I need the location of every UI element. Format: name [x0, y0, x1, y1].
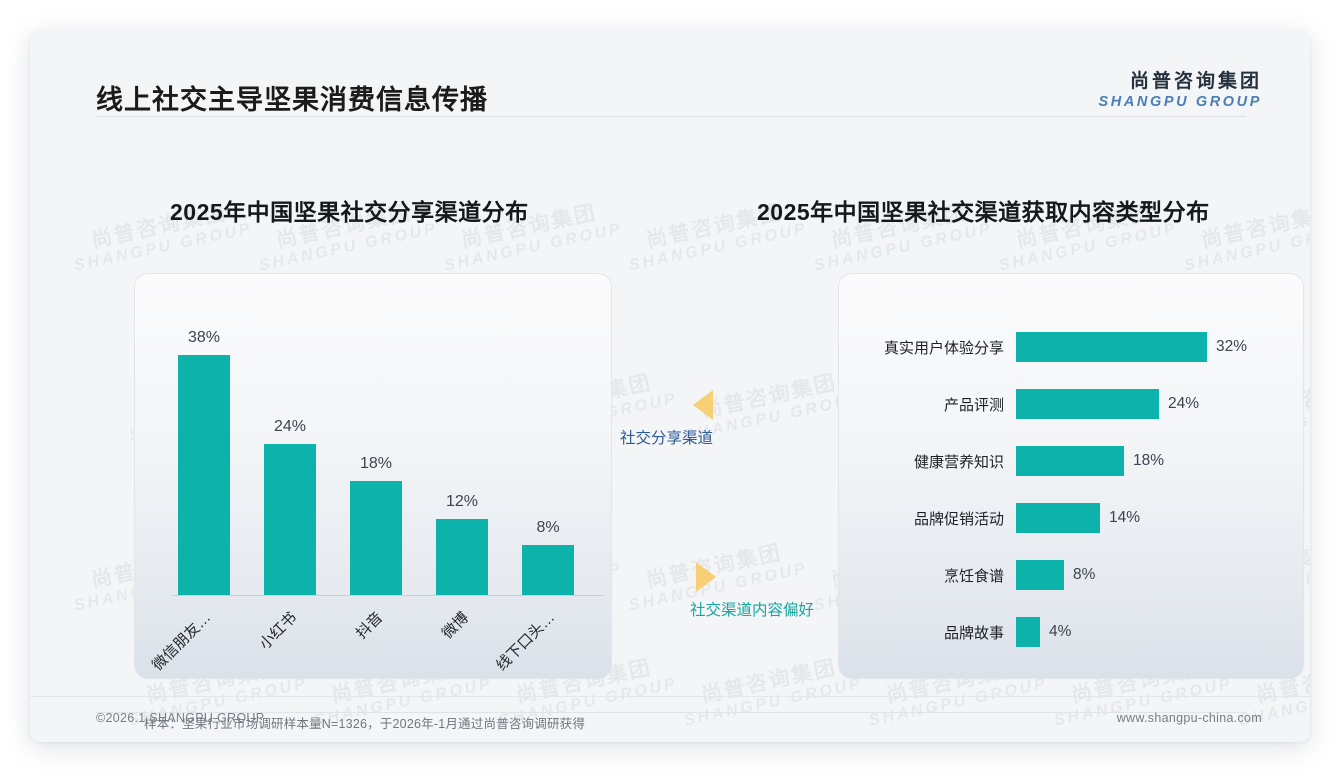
vertical-bar [178, 355, 230, 595]
logo-english-text: SHANGPU GROUP [1098, 94, 1262, 110]
website-link[interactable]: www.shangpu-china.com [1117, 711, 1262, 725]
horizontal-bar [1016, 617, 1040, 647]
slide-canvas: 尚普咨询集团SHANGPU GROUP尚普咨询集团SHANGPU GROUP尚普… [30, 30, 1310, 742]
bar-category-label: 品牌促销活动 [858, 508, 1016, 529]
horizontal-bar-row: 真实用户体验分享32% [858, 330, 1288, 364]
bar-category-label: 品牌故事 [858, 622, 1016, 643]
horizontal-bar-row: 品牌促销活动14% [858, 501, 1288, 535]
bar-value-label: 24% [250, 418, 330, 436]
vertical-bar [436, 519, 488, 595]
bar-category-label: 烹饪食谱 [858, 565, 1016, 586]
left-chart-title: 2025年中国坚果社交分享渠道分布 [170, 193, 529, 227]
bar-value-label: 14% [1100, 509, 1140, 527]
bar-value-label: 24% [1159, 395, 1199, 413]
bar-value-label: 12% [422, 493, 502, 511]
bar-category-label: 健康营养知识 [858, 451, 1016, 472]
bar-category-label: 产品评测 [858, 394, 1016, 415]
bar-value-label: 8% [508, 519, 588, 537]
company-logo: 尚普咨询集团 SHANGPU GROUP [1098, 66, 1262, 110]
horizontal-bar [1016, 560, 1064, 590]
horizontal-bar [1016, 503, 1100, 533]
logo-chinese-text: 尚普咨询集团 [1098, 66, 1262, 93]
annotation-channel-label: 社交分享渠道 [620, 426, 713, 448]
annotation-social-channel: 社交分享渠道 [620, 390, 713, 448]
bar-value-label: 18% [1124, 452, 1164, 470]
horizontal-bar [1016, 446, 1124, 476]
horizontal-bar-row: 品牌故事4% [858, 615, 1288, 649]
triangle-left-icon [693, 390, 713, 420]
vertical-bar [350, 481, 402, 595]
horizontal-bar-row: 烹饪食谱8% [858, 558, 1288, 592]
bar-category-label: 真实用户体验分享 [858, 337, 1016, 358]
bar-value-label: 18% [336, 455, 416, 473]
horizontal-bar-row: 产品评测24% [858, 387, 1288, 421]
annotation-content-label: 社交渠道内容偏好 [690, 598, 814, 620]
bar-value-label: 38% [164, 329, 244, 347]
vertical-bar [264, 444, 316, 595]
page-title: 线上社交主导坚果消费信息传播 [96, 78, 488, 117]
bar-value-label: 4% [1040, 623, 1071, 641]
right-chart-title: 2025年中国坚果社交渠道获取内容类型分布 [757, 193, 1210, 227]
slide-footer: ©2026.1 SHANGPU GROUP www.shangpu-china.… [30, 696, 1310, 742]
vertical-bar [522, 545, 574, 595]
horizontal-bar [1016, 389, 1159, 419]
bar-value-label: 32% [1207, 338, 1247, 356]
triangle-right-icon [696, 562, 716, 592]
horizontal-bar [1016, 332, 1207, 362]
copyright-text: ©2026.1 SHANGPU GROUP [96, 711, 264, 725]
slide-header: 线上社交主导坚果消费信息传播 尚普咨询集团 SHANGPU GROUP [30, 30, 1310, 116]
bar-value-label: 8% [1064, 566, 1095, 584]
annotation-content-preference: 社交渠道内容偏好 [690, 562, 814, 620]
horizontal-bar-row: 健康营养知识18% [858, 444, 1288, 478]
